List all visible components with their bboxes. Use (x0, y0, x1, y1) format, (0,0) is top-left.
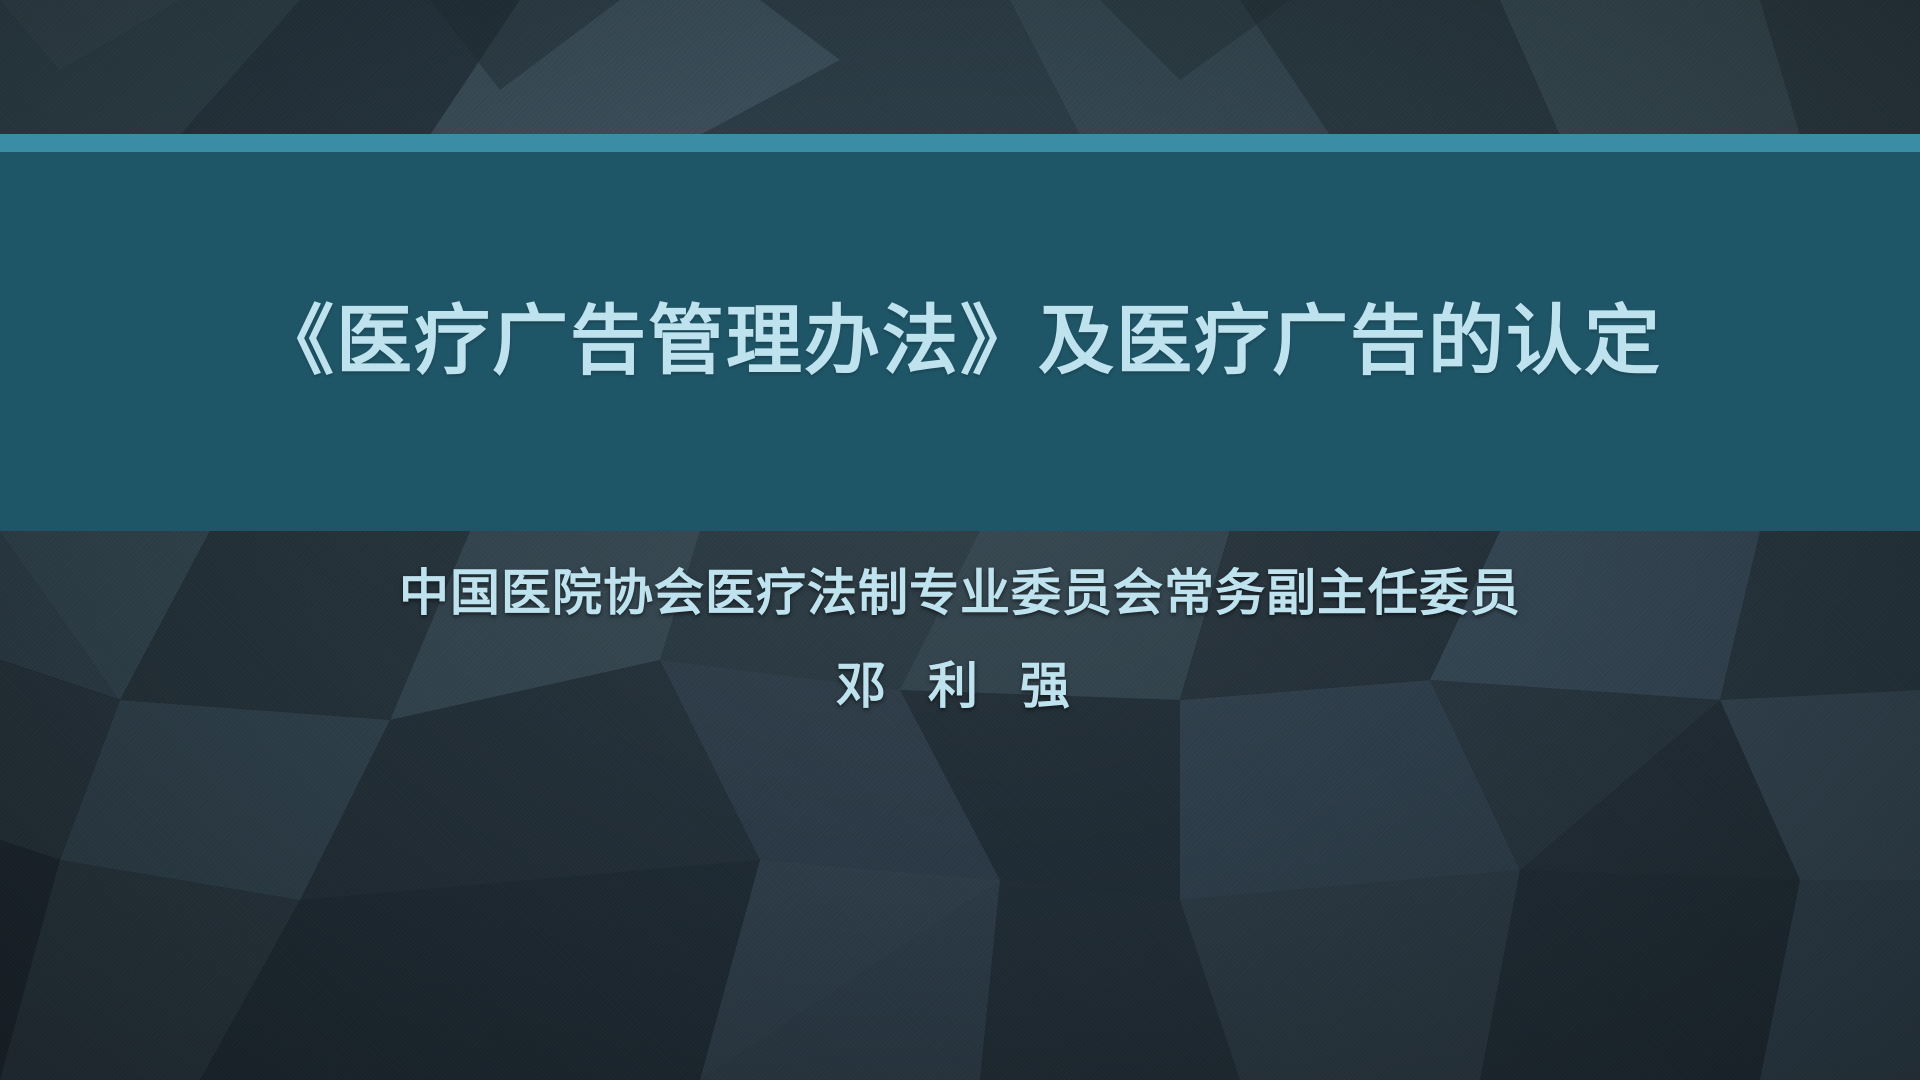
presenter-name: 邓 利 强 (0, 654, 1920, 719)
title-panel: 《医疗广告管理办法》及医疗广告的认定 (0, 152, 1920, 531)
accent-bar (0, 134, 1920, 152)
slide-title: 《医疗广告管理办法》及医疗广告的认定 (0, 296, 1920, 387)
presenter-block: 中国医院协会医疗法制专业委员会常务副主任委员 邓 利 强 (0, 560, 1920, 719)
presentation-slide: 《医疗广告管理办法》及医疗广告的认定 中国医院协会医疗法制专业委员会常务副主任委… (0, 0, 1920, 1080)
presenter-affiliation: 中国医院协会医疗法制专业委员会常务副主任委员 (0, 560, 1920, 628)
title-panel-inner: 《医疗广告管理办法》及医疗广告的认定 (0, 296, 1920, 387)
